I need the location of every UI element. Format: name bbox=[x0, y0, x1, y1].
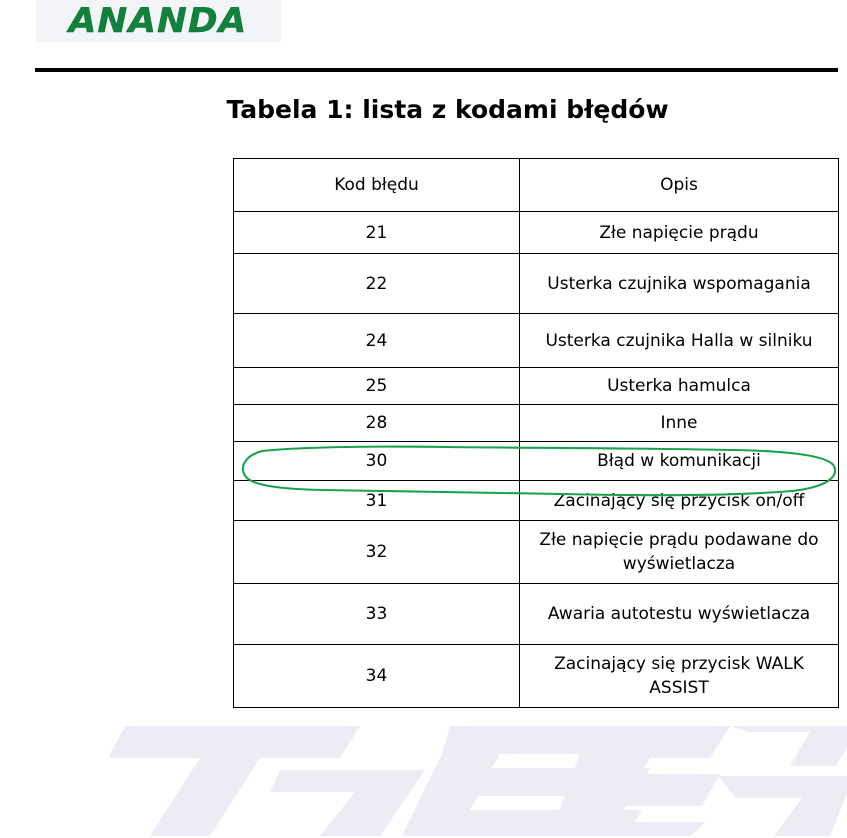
table-row: 34 Zacinający się przycisk WALK ASSIST bbox=[234, 645, 839, 708]
page-title: Tabela 1: lista z kodami błędów bbox=[0, 94, 847, 126]
header-divider-rule bbox=[35, 68, 838, 72]
cell-error-code: 22 bbox=[234, 254, 520, 314]
table-row: 25 Usterka hamulca bbox=[234, 368, 839, 405]
page-title-text: Tabela 1: lista z kodami błędów bbox=[226, 94, 668, 126]
table-row: 32 Złe napięcie prądu podawane do wyświe… bbox=[234, 521, 839, 584]
cell-error-description: Awaria autotestu wyświetlacza bbox=[520, 584, 839, 645]
cell-error-code: 34 bbox=[234, 645, 520, 708]
error-codes-table: Kod błędu Opis 21 Złe napięcie prądu 22 … bbox=[233, 158, 839, 708]
table-row: 31 Zacinający się przycisk on/off bbox=[234, 481, 839, 521]
cell-error-code: 24 bbox=[234, 314, 520, 368]
cell-error-code: 28 bbox=[234, 405, 520, 442]
table-row: 33 Awaria autotestu wyświetlacza bbox=[234, 584, 839, 645]
error-codes-table-wrapper: Kod błędu Opis 21 Złe napięcie prądu 22 … bbox=[233, 158, 838, 708]
table-row: 22 Usterka czujnika wspomagania bbox=[234, 254, 839, 314]
table-row: 24 Usterka czujnika Halla w silniku bbox=[234, 314, 839, 368]
cell-error-code: 21 bbox=[234, 212, 520, 254]
cell-error-description: Usterka czujnika wspomagania bbox=[520, 254, 839, 314]
cell-error-description: Usterka hamulca bbox=[520, 368, 839, 405]
cell-error-code: 31 bbox=[234, 481, 520, 521]
cell-error-code: 33 bbox=[234, 584, 520, 645]
cell-error-code: 32 bbox=[234, 521, 520, 584]
table-row: 30 Błąd w komunikacji bbox=[234, 442, 839, 481]
column-header-description: Opis bbox=[520, 159, 839, 212]
table-header-row: Kod błędu Opis bbox=[234, 159, 839, 212]
cell-error-description: Zacinający się przycisk WALK ASSIST bbox=[520, 645, 839, 708]
column-header-code: Kod błędu bbox=[234, 159, 520, 212]
cell-error-description: Usterka czujnika Halla w silniku bbox=[520, 314, 839, 368]
page-watermark bbox=[30, 718, 847, 838]
cell-error-code: 25 bbox=[234, 368, 520, 405]
cell-error-description: Złe napięcie prądu bbox=[520, 212, 839, 254]
table-row-highlighted: 28 Inne bbox=[234, 405, 839, 442]
table-row: 21 Złe napięcie prądu bbox=[234, 212, 839, 254]
cell-error-description: Złe napięcie prądu podawane do wyświetla… bbox=[520, 521, 839, 584]
cell-error-description: Zacinający się przycisk on/off bbox=[520, 481, 839, 521]
ananda-logo: ANANDA bbox=[36, 0, 281, 42]
cell-error-code: 30 bbox=[234, 442, 520, 481]
cell-error-description: Błąd w komunikacji bbox=[520, 442, 839, 481]
cell-error-description: Inne bbox=[520, 405, 839, 442]
ananda-logo-text: ANANDA bbox=[69, 4, 248, 38]
